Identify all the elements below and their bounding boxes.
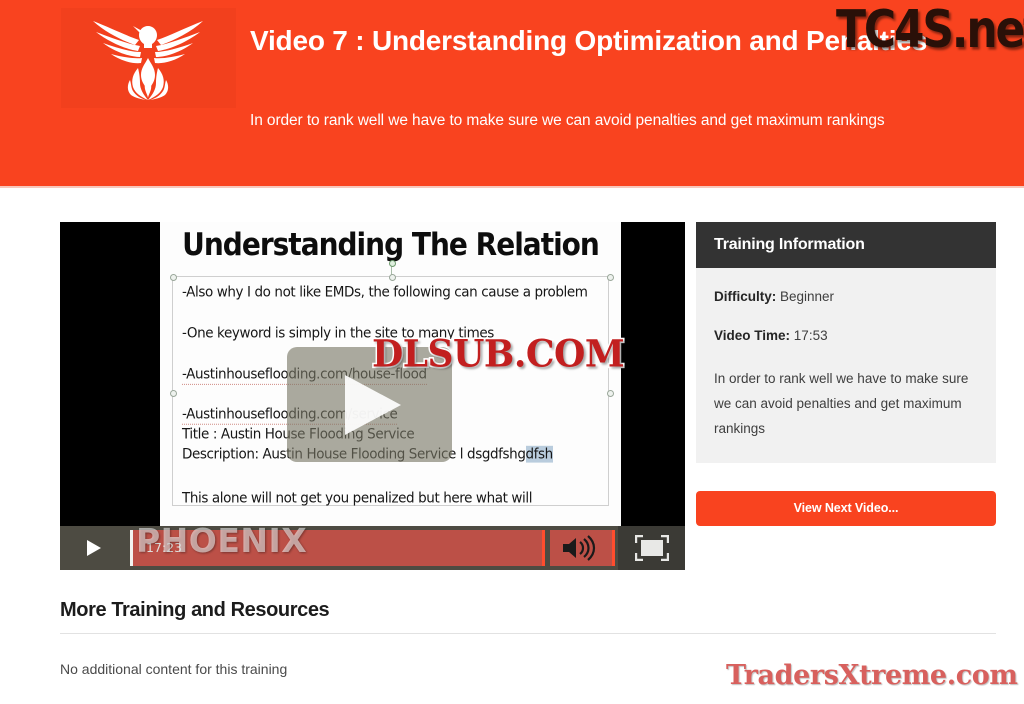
view-next-video-button[interactable]: View Next Video... <box>696 491 996 526</box>
training-information-sidebar: Training Information Difficulty: Beginne… <box>696 222 996 526</box>
video-time-value: 17:53 <box>794 328 828 343</box>
progress-start-marker <box>130 530 133 566</box>
slide-title: Understanding The Relation <box>160 226 621 263</box>
difficulty-row: Difficulty: Beginner <box>714 284 978 309</box>
slide-selected-text: dfsh <box>526 446 553 463</box>
slide-line-1: -Also why I do not like EMDs, the follow… <box>182 282 602 304</box>
resize-handle-top-center[interactable] <box>389 274 396 281</box>
phoenix-logo-box <box>61 8 236 108</box>
resize-handle-top-right[interactable] <box>607 274 614 281</box>
more-training-divider <box>60 633 996 634</box>
watermark-tradersxtreme: TradersXtreme.com <box>726 660 1018 691</box>
page-title: Video 7 : Understanding Optimization and… <box>250 22 970 59</box>
difficulty-label: Difficulty: <box>714 289 776 304</box>
time-display: 17:23 <box>146 540 182 555</box>
panel-description: In order to rank well we have to make su… <box>714 366 978 441</box>
resize-handle-top-left[interactable] <box>170 274 177 281</box>
resize-handle-middle-left[interactable] <box>170 390 177 397</box>
play-button[interactable] <box>60 526 126 570</box>
more-training-empty-text: No additional content for this training <box>60 661 287 677</box>
volume-icon <box>561 535 601 561</box>
volume-end-marker <box>612 530 615 566</box>
fullscreen-icon <box>635 535 669 561</box>
play-overlay-button[interactable] <box>287 347 452 462</box>
progress-end-marker <box>542 530 545 566</box>
video-player[interactable]: Understanding The Relation -Also why I d… <box>60 222 685 570</box>
phoenix-logo-icon <box>83 12 213 107</box>
slide-line-7: This alone will not get you penalized bu… <box>182 488 602 510</box>
video-time-label: Video Time: <box>714 328 790 343</box>
play-triangle-icon <box>345 375 401 435</box>
more-training-heading: More Training and Resources <box>60 599 329 622</box>
rotate-handle[interactable] <box>389 260 396 267</box>
page-header: Video 7 : Understanding Optimization and… <box>0 0 1024 186</box>
page-subtitle: In order to rank well we have to make su… <box>250 108 962 134</box>
slide-line-2: -One keyword is simply in the site to ma… <box>182 323 602 345</box>
panel-body: Difficulty: Beginner Video Time: 17:53 I… <box>696 268 996 463</box>
video-controls-bar: 17:23 <box>60 526 685 570</box>
resize-handle-middle-right[interactable] <box>607 390 614 397</box>
video-time-row: Video Time: 17:53 <box>714 323 978 348</box>
progress-bar[interactable] <box>130 530 542 566</box>
difficulty-value: Beginner <box>780 289 834 304</box>
panel-title: Training Information <box>696 222 996 268</box>
fullscreen-button[interactable] <box>618 526 685 570</box>
header-divider <box>0 186 1024 188</box>
volume-button[interactable] <box>550 530 612 566</box>
play-icon <box>87 540 101 556</box>
